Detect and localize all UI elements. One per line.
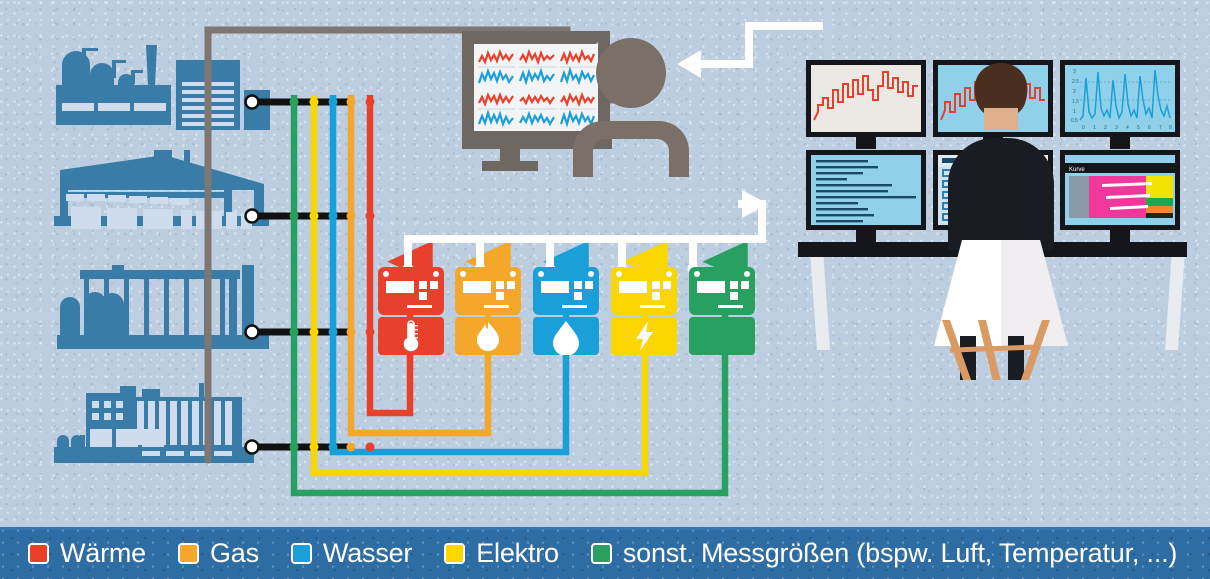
monitor-top-left bbox=[806, 60, 926, 149]
svg-text:7: 7 bbox=[1159, 125, 1162, 131]
svg-text:6: 6 bbox=[1148, 125, 1151, 131]
legend-label-sonstige: sonst. Messgrößen (bspw. Luft, Temperatu… bbox=[623, 540, 1177, 567]
meter-gas[interactable] bbox=[455, 267, 521, 355]
data-bus-to-controlroom bbox=[390, 160, 790, 275]
square-swatch-icon-elektro bbox=[444, 543, 465, 564]
monitor-top-right: 32.5 21.5 10.5 012 345 678 bbox=[1060, 60, 1180, 149]
legend-label-waerme: Wärme bbox=[60, 540, 146, 567]
svg-text:1: 1 bbox=[1073, 109, 1076, 115]
meter-sonstige[interactable] bbox=[689, 267, 755, 355]
legend-item-sonstige: sonst. Messgrößen (bspw. Luft, Temperatu… bbox=[591, 540, 1177, 567]
legend-item-gas: Gas bbox=[178, 540, 259, 567]
scene: 32.5 21.5 10.5 012 345 678 bbox=[0, 0, 1210, 527]
legend-label-elektro: Elektro bbox=[476, 540, 559, 567]
svg-text:3: 3 bbox=[1115, 125, 1118, 131]
svg-text:0.5: 0.5 bbox=[1071, 118, 1078, 124]
legend-item-wasser: Wasser bbox=[291, 540, 412, 567]
monitor-bottom-left bbox=[806, 150, 926, 249]
svg-text:2: 2 bbox=[1073, 89, 1076, 95]
cable-tap-dots bbox=[270, 85, 390, 465]
svg-text:0: 0 bbox=[1082, 125, 1085, 131]
svg-text:4: 4 bbox=[1126, 125, 1129, 131]
svg-text:8: 8 bbox=[1169, 125, 1172, 131]
svg-text:3: 3 bbox=[1073, 69, 1076, 75]
legend-top-strip bbox=[0, 527, 1210, 530]
legend-bar: Wärme Gas Wasser Elektro sonst. Messgröß… bbox=[0, 527, 1210, 579]
control-room: 32.5 21.5 10.5 012 345 678 bbox=[790, 50, 1195, 380]
monitor-bottom-right: Kurve bbox=[1060, 150, 1180, 242]
svg-text:1.5: 1.5 bbox=[1072, 99, 1079, 105]
meter-waerme[interactable] bbox=[378, 267, 444, 355]
meter-elektro[interactable] bbox=[611, 267, 677, 355]
infographic-root: 32.5 21.5 10.5 012 345 678 bbox=[0, 0, 1210, 579]
svg-text:2.5: 2.5 bbox=[1072, 79, 1079, 85]
svg-text:1: 1 bbox=[1093, 125, 1096, 131]
meter-wasser[interactable] bbox=[533, 267, 599, 355]
svg-text:Kurve: Kurve bbox=[1069, 167, 1085, 173]
svg-text:2: 2 bbox=[1104, 125, 1107, 131]
legend-item-elektro: Elektro bbox=[444, 540, 559, 567]
square-swatch-icon-waerme bbox=[28, 543, 49, 564]
square-swatch-icon-wasser bbox=[291, 543, 312, 564]
square-swatch-icon-sonstige bbox=[591, 543, 612, 564]
legend-item-waerme: Wärme bbox=[28, 540, 146, 567]
svg-text:5: 5 bbox=[1137, 125, 1140, 131]
square-swatch-icon-gas bbox=[178, 543, 199, 564]
legend-label-gas: Gas bbox=[210, 540, 259, 567]
legend-label-wasser: Wasser bbox=[323, 540, 412, 567]
